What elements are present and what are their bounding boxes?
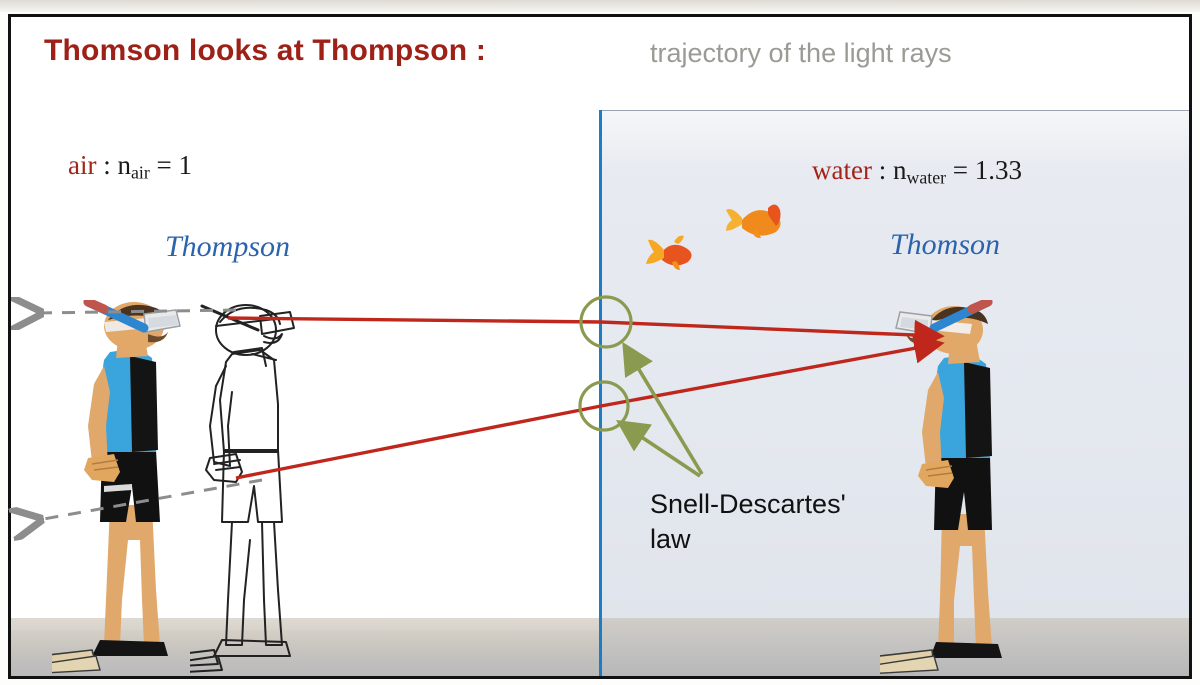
slide-canvas: Thomson looks at Thompson : trajectory o…: [0, 0, 1200, 685]
ray-upper-refracted: [601, 322, 938, 336]
ray-upper-incident: [228, 318, 601, 322]
virtual-ray-upper: [38, 310, 236, 313]
pointer-to-upper-point: [626, 348, 702, 474]
snell-pointer-arrows: [622, 348, 702, 476]
ray-lower-incident: [236, 406, 601, 478]
virtual-image-rays: [38, 310, 262, 520]
ray-diagram-overlay: [0, 0, 1200, 685]
ray-lower-refracted: [601, 344, 938, 406]
virtual-ray-lower: [38, 480, 262, 520]
